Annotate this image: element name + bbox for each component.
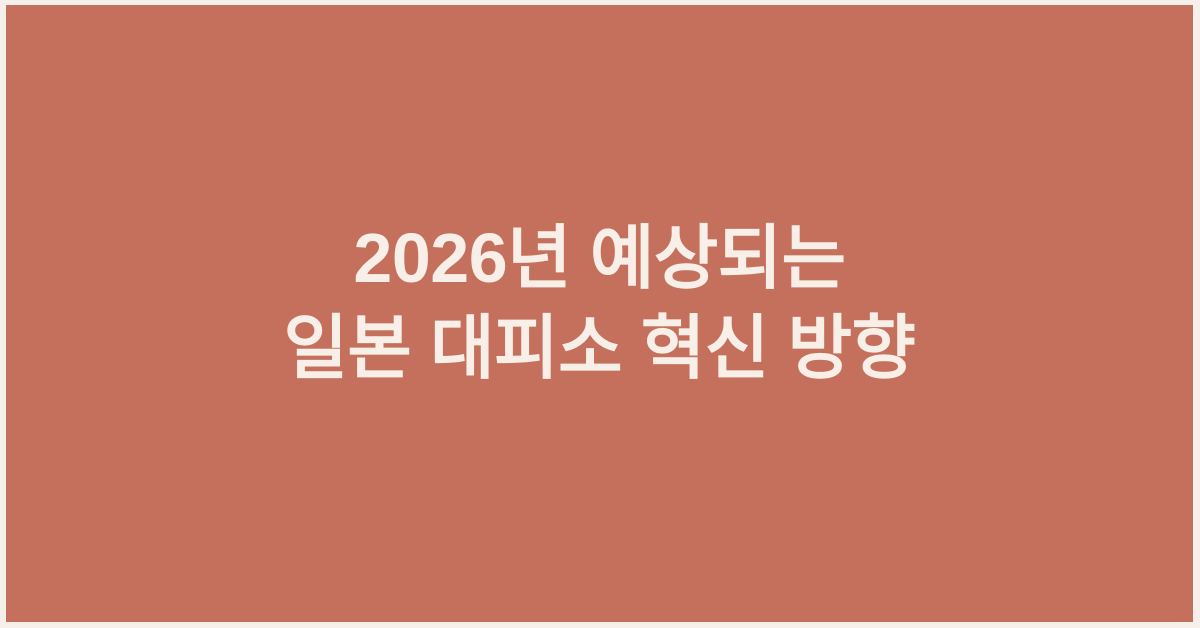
headline-block: 2026년 예상되는 일본 대피소 혁신 방향 bbox=[6, 213, 1193, 393]
thumbnail-canvas: 2026년 예상되는 일본 대피소 혁신 방향 bbox=[6, 5, 1193, 622]
headline-line-2: 일본 대피소 혁신 방향 bbox=[284, 303, 916, 393]
headline-line-1: 2026년 예상되는 bbox=[353, 213, 845, 303]
thumbnail-card: 2026년 예상되는 일본 대피소 혁신 방향 bbox=[0, 0, 1200, 628]
